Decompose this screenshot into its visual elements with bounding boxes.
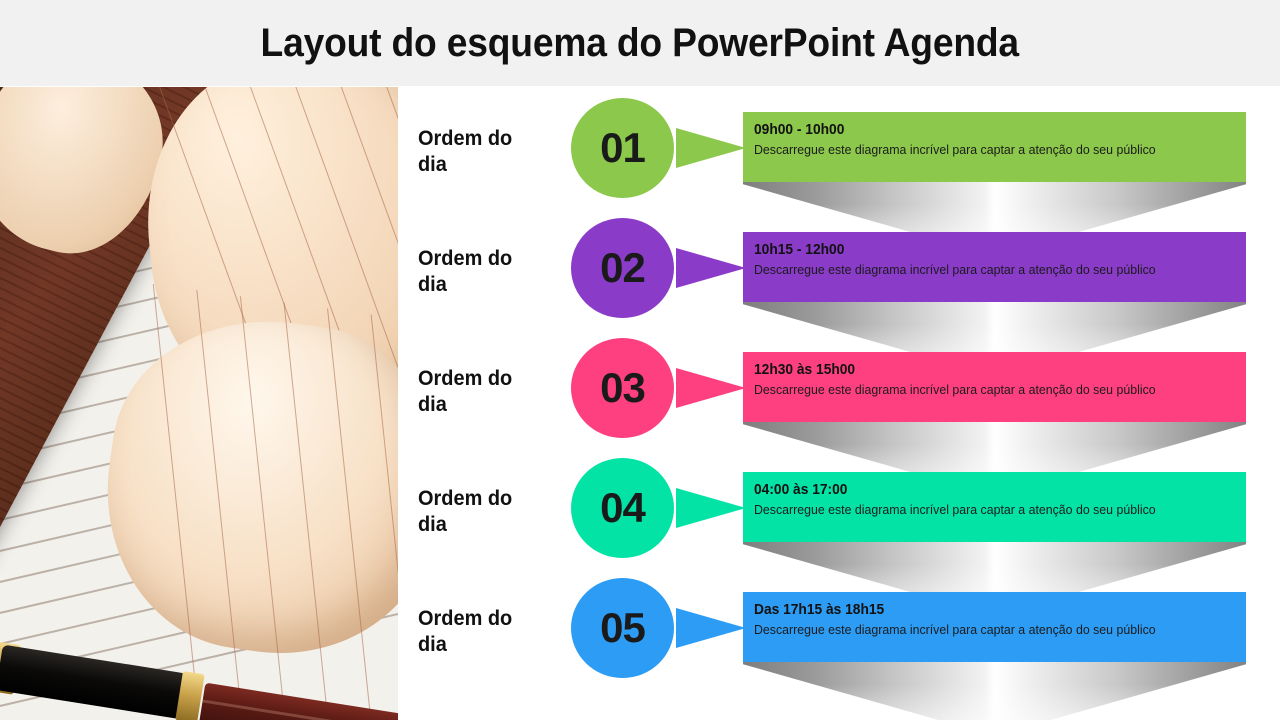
callout-pointer [676,368,746,408]
callout-pointer [676,488,746,528]
agenda-banner[interactable]: 09h00 - 10h00Descarregue este diagrama i… [743,112,1246,182]
callout-pointer [676,608,746,648]
agenda-row: Ordem do dia0312h30 às 15h00Descarregue … [398,338,1280,458]
agenda-step-number: 01 [600,124,645,172]
agenda-step-number: 04 [600,484,645,532]
agenda-row: Ordem do dia0404:00 às 17:00Descarregue … [398,458,1280,578]
agenda-row: Ordem do dia0109h00 - 10h00Descarregue e… [398,98,1280,218]
agenda-item-label: Ordem do dia [418,606,561,658]
agenda-item-label: Ordem do dia [418,246,561,298]
callout-pointer [676,248,746,288]
agenda-time: Das 17h15 às 18h15 [754,600,1221,620]
agenda-banner[interactable]: Das 17h15 às 18h15Descarregue este diagr… [743,592,1246,662]
agenda-step-number: 02 [600,244,645,292]
agenda-description: Descarregue este diagrama incrível para … [754,620,1221,639]
agenda-row: Ordem do dia05Das 17h15 às 18h15Descarre… [398,578,1280,698]
agenda-step-number: 05 [600,604,645,652]
agenda-time: 12h30 às 15h00 [754,360,1221,380]
agenda-description: Descarregue este diagrama incrível para … [754,260,1221,279]
agenda-time: 04:00 às 17:00 [754,480,1221,500]
agenda-description: Descarregue este diagrama incrível para … [754,380,1221,399]
agenda-step-number: 03 [600,364,645,412]
agenda-step-circle[interactable]: 05 [571,578,674,678]
agenda-item-label: Ordem do dia [418,126,561,178]
agenda-item-label: Ordem do dia [418,486,561,538]
agenda-step-circle[interactable]: 02 [571,218,674,318]
page-title: Layout do esquema do PowerPoint Agenda [261,21,1019,66]
agenda-item-label: Ordem do dia [418,366,561,418]
agenda-banner[interactable]: 10h15 - 12h00Descarregue este diagrama i… [743,232,1246,302]
agenda-row: Ordem do dia0210h15 - 12h00Descarregue e… [398,218,1280,338]
agenda-banner[interactable]: 04:00 às 17:00Descarregue este diagrama … [743,472,1246,542]
agenda-step-circle[interactable]: 03 [571,338,674,438]
banner-shadow [743,662,1246,720]
slide-canvas: Layout do esquema do PowerPoint Agenda O… [0,0,1280,720]
agenda-description: Descarregue este diagrama incrível para … [754,500,1221,519]
agenda-banner[interactable]: 12h30 às 15h00Descarregue este diagrama … [743,352,1246,422]
slide-header: Layout do esquema do PowerPoint Agenda [0,0,1280,86]
agenda-description: Descarregue este diagrama incrível para … [754,140,1221,159]
decorative-photo [0,87,398,720]
callout-pointer [676,128,746,168]
agenda-time: 10h15 - 12h00 [754,240,1221,260]
agenda-step-circle[interactable]: 01 [571,98,674,198]
agenda-time: 09h00 - 10h00 [754,120,1221,140]
agenda-step-circle[interactable]: 04 [571,458,674,558]
